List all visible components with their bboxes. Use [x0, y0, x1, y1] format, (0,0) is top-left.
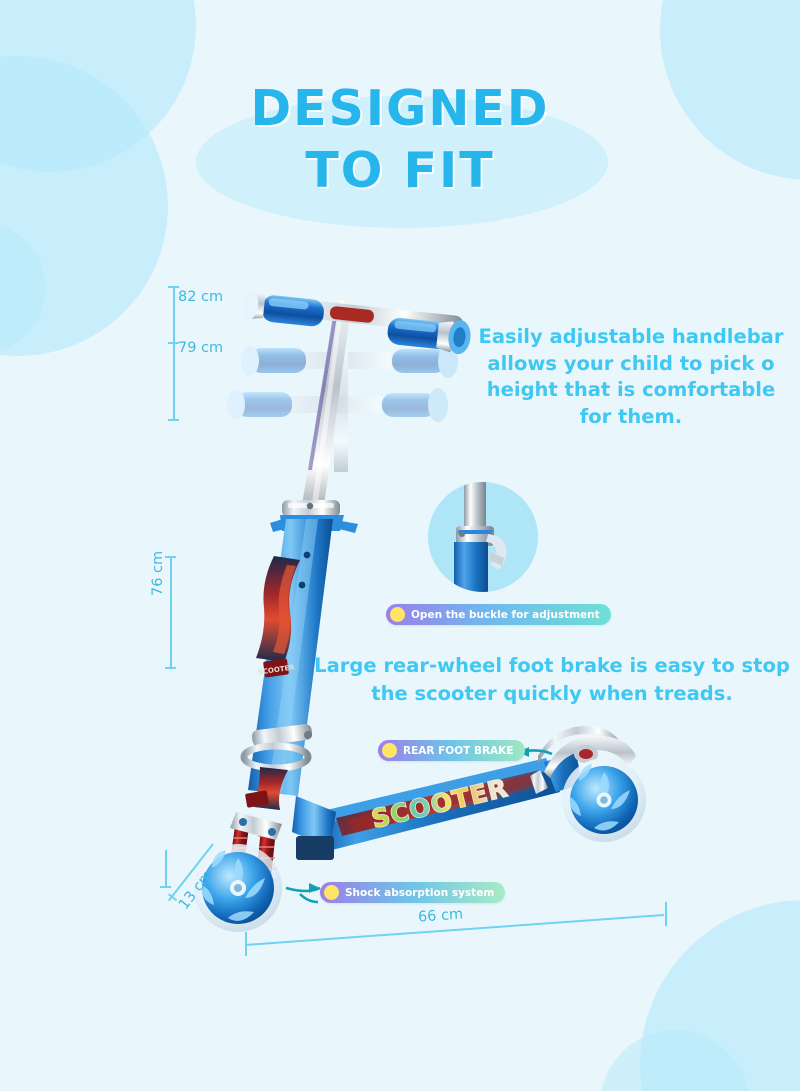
callout-badge-rear-foot-brake: REAR FOOT BRAKE — [378, 740, 525, 761]
feature-text-handlebar: Easily adjustable handlebar allows your … — [470, 324, 792, 430]
badge-dot-icon — [382, 743, 397, 758]
dimension-line-79 — [173, 342, 175, 420]
dimension-label-79: 79 cm — [178, 340, 223, 356]
rear-wheel — [562, 758, 646, 842]
badge-dot-icon — [390, 607, 405, 622]
dimension-label-76: 76 cm — [150, 551, 166, 596]
dimension-cap-79-bottom — [168, 419, 179, 421]
dimension-cap-66-right — [665, 902, 667, 926]
dimension-cap-66-left — [245, 932, 247, 956]
scooter-deck: SCOOTER — [292, 752, 582, 860]
dimension-line-82 — [173, 286, 175, 342]
dimension-cap-82-top — [168, 286, 179, 288]
callout-badge-buckle-label: Open the buckle for adjustment — [411, 609, 600, 621]
badge-dot-icon — [324, 885, 339, 900]
dimension-line-deck-vertical — [165, 850, 167, 888]
callout-badge-shock-absorption-label: Shock absorption system — [345, 887, 494, 899]
callout-badge-shock-absorption: Shock absorption system — [320, 882, 505, 903]
callout-badge-rear-foot-brake-label: REAR FOOT BRAKE — [403, 745, 514, 757]
dimension-cap-76-top — [165, 556, 176, 558]
dimension-cap-deck-bottom — [160, 886, 171, 888]
callout-badge-buckle: Open the buckle for adjustment — [386, 604, 611, 625]
dimension-line-76 — [170, 556, 172, 668]
dimension-cap-76-bottom — [165, 667, 176, 669]
feature-text-brake: Large rear-wheel foot brake is easy to s… — [308, 652, 796, 708]
handlebar-active — [241, 291, 472, 356]
infographic-page: DESIGNED TO FIT — [0, 0, 800, 1091]
scooter-illustration: SCOOTER SCOOTER — [0, 0, 800, 1091]
dimension-label-82: 82 cm — [178, 289, 223, 305]
deck-graphic-label: SCOOTER — [369, 773, 511, 834]
buckle-detail-inset — [428, 482, 538, 592]
dimension-label-66: 66 cm — [417, 906, 463, 925]
